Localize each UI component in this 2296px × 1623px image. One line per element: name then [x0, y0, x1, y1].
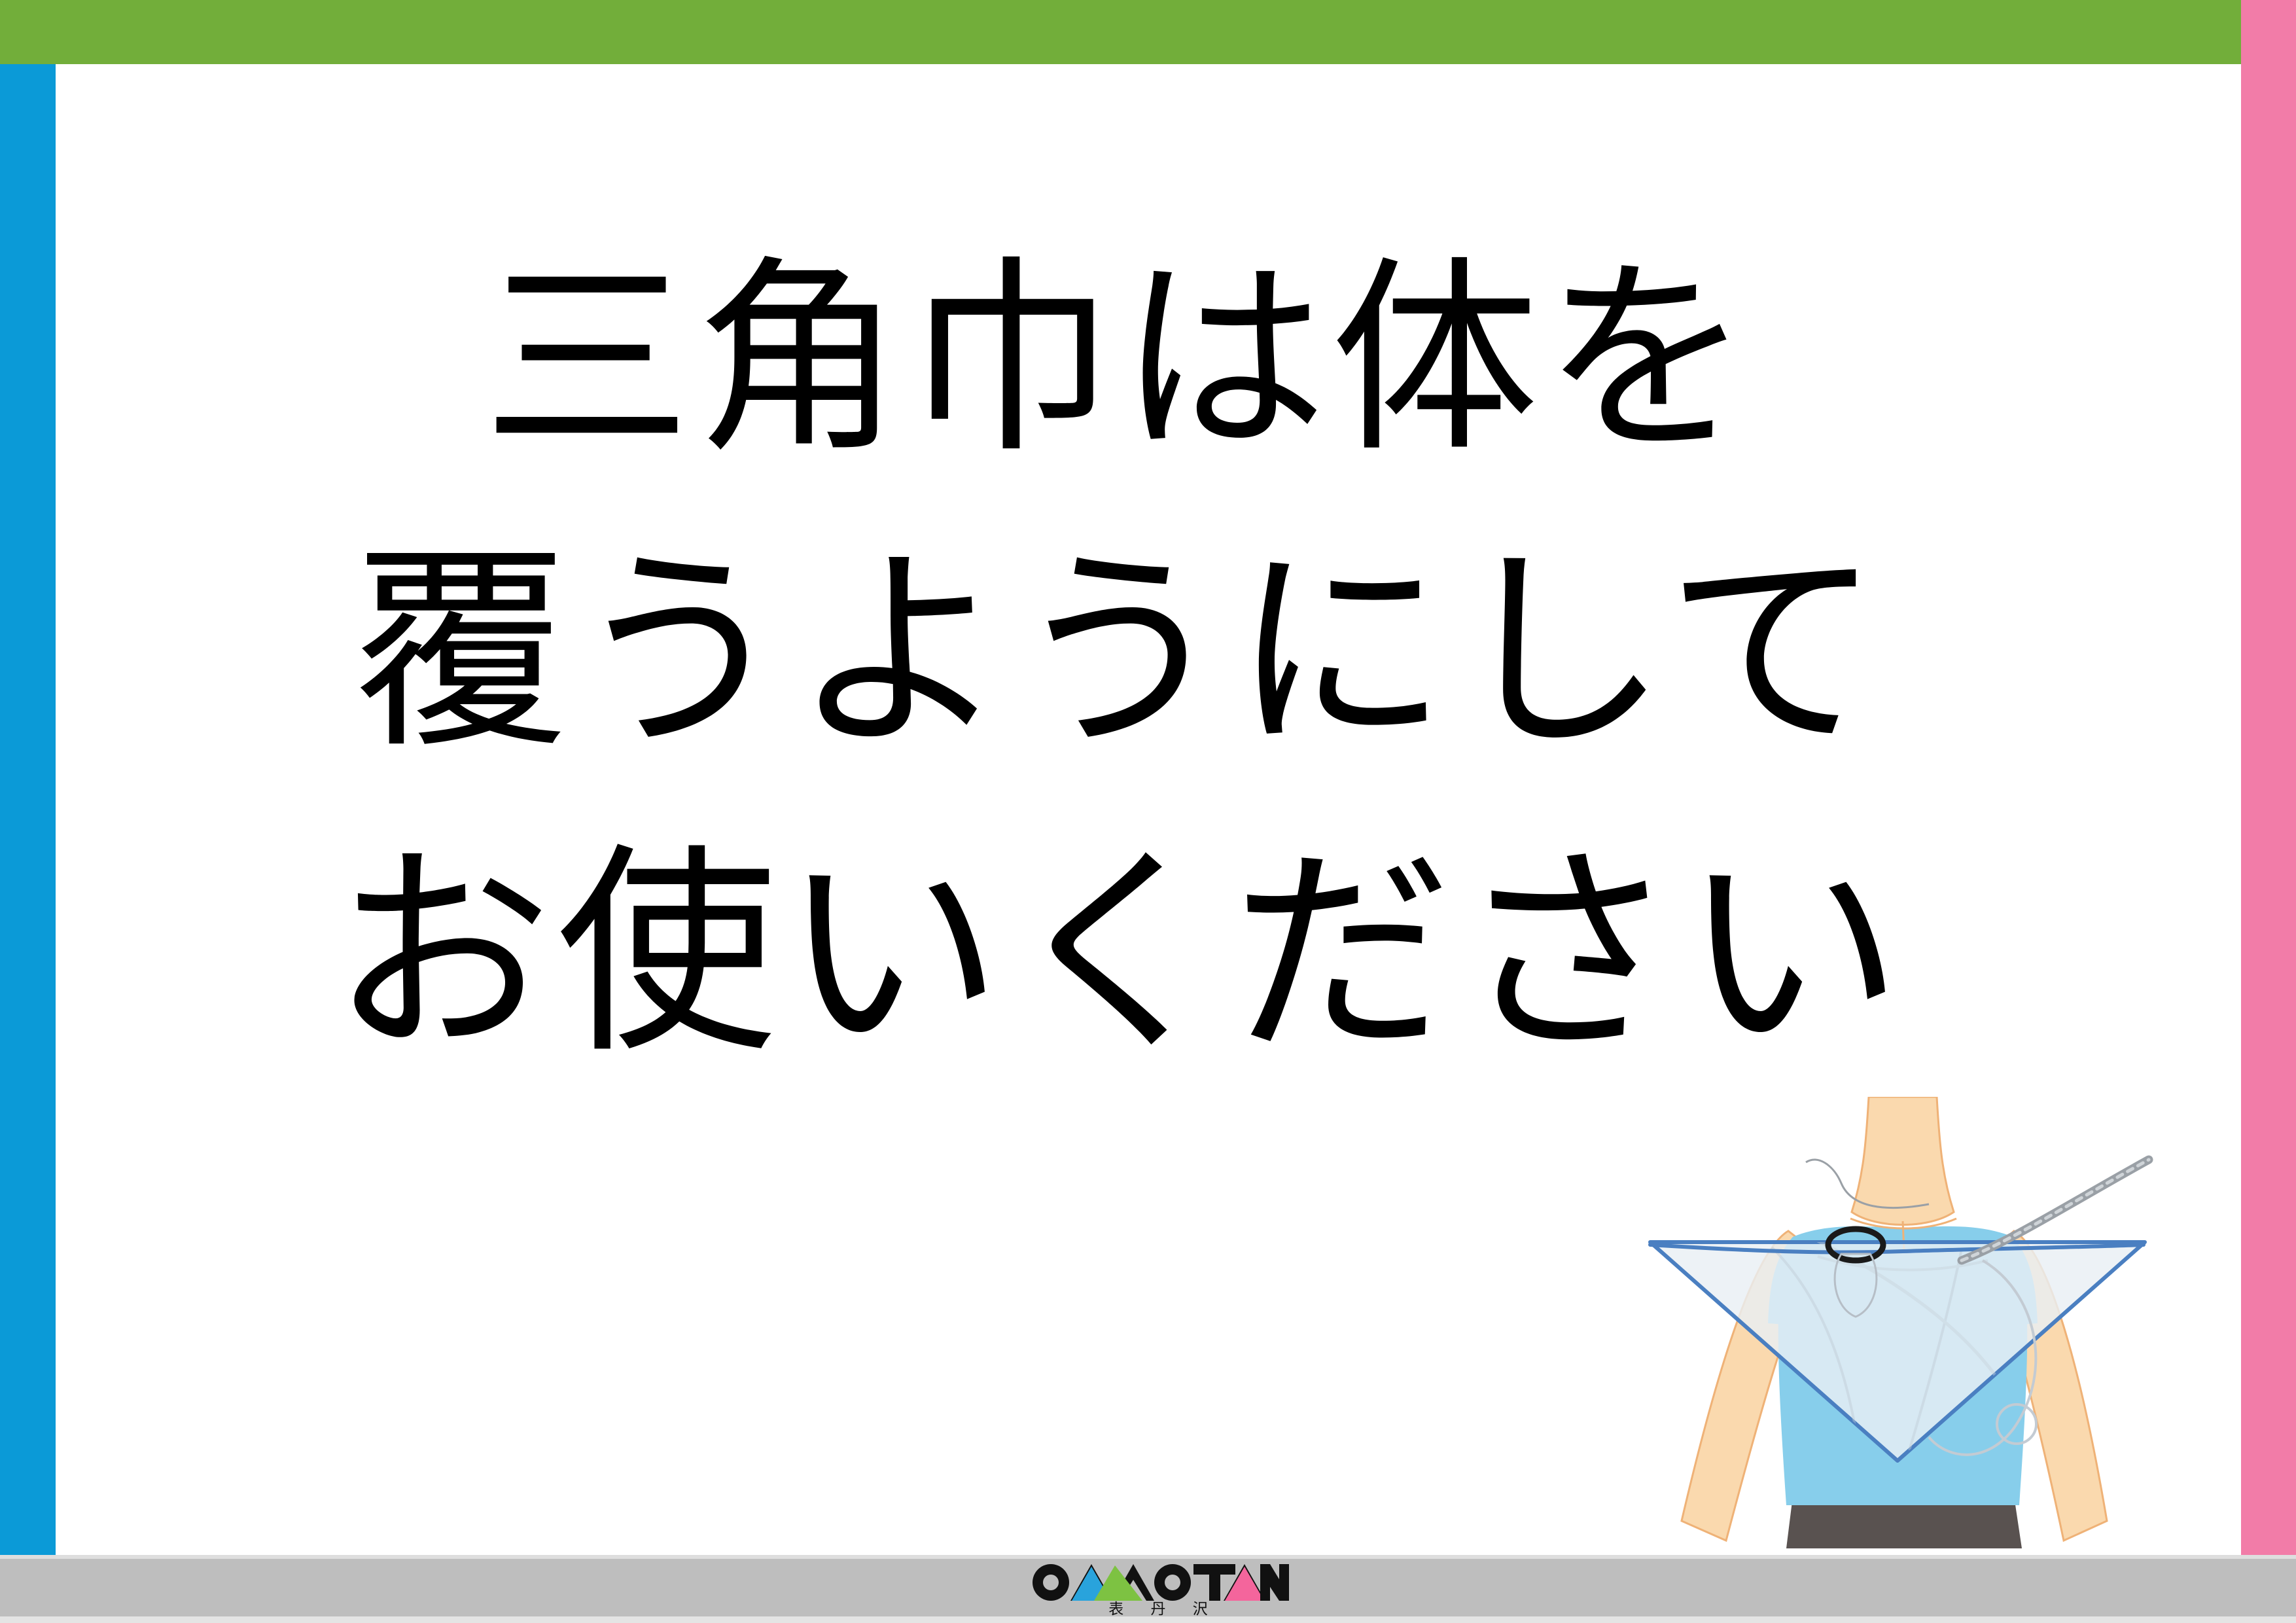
logo-subtitle: 表 丹 沢: [1027, 1602, 1289, 1617]
top-accent-bar: [0, 0, 2242, 64]
logo-letter-m: [1070, 1564, 1154, 1601]
headline-line-1: 三角巾は体を: [79, 216, 2159, 503]
triangular-bandage-illustration: [1621, 1097, 2171, 1559]
left-accent-bar: [0, 64, 56, 1559]
slide-canvas: 三角巾は体を 覆うようにして お使いください: [0, 0, 2296, 1623]
omotan-wordmark: [1027, 1559, 1289, 1605]
right-accent-bar: [2241, 0, 2296, 1558]
neck: [1852, 1097, 1954, 1225]
headline-line-3: お使いください: [79, 801, 2159, 1106]
logo-letter-n: [1260, 1564, 1289, 1601]
headline-line-2: 覆うようにして: [79, 503, 2159, 801]
omotan-logo: 表 丹 沢: [1027, 1559, 1289, 1622]
logo-letter-o1: [1033, 1564, 1069, 1601]
headline-block: 三角巾は体を 覆うようにして お使いください: [79, 216, 2159, 1107]
logo-letter-o2: [1154, 1564, 1191, 1601]
